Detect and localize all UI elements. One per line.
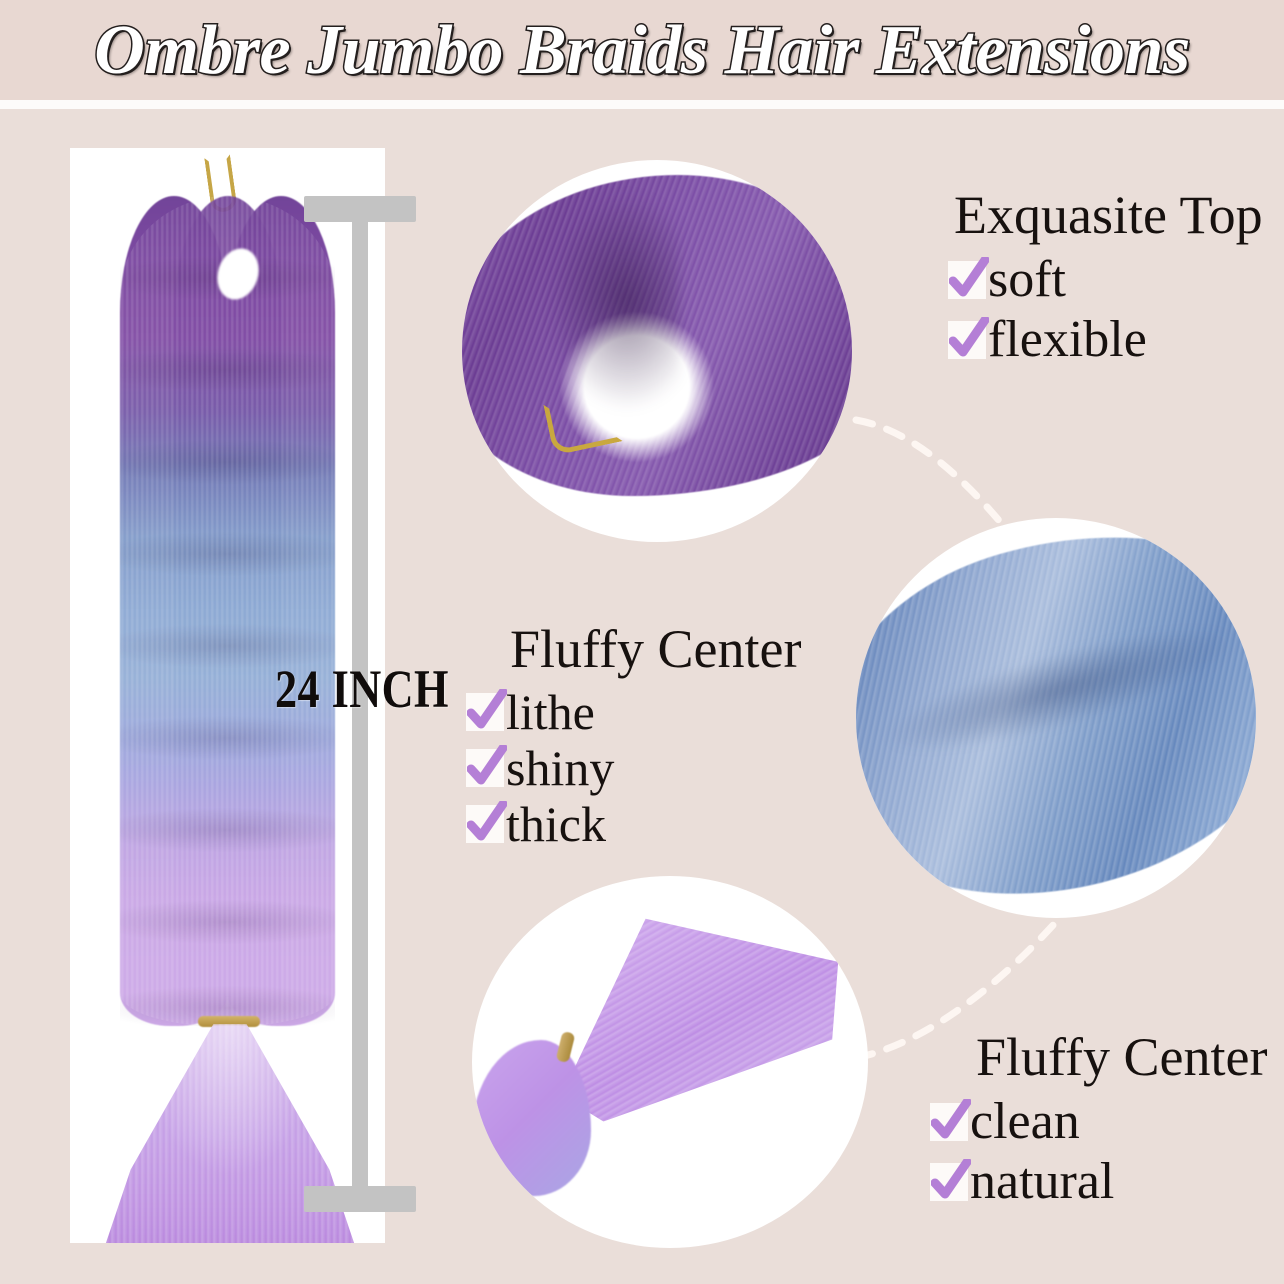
list-item: shiny — [466, 740, 801, 796]
feature-title: Exquasite Top — [948, 186, 1263, 244]
checkmark-icon — [466, 693, 504, 731]
feature-list: clean natural — [930, 1092, 1267, 1212]
list-item: lithe — [466, 684, 801, 740]
checkmark-icon — [948, 261, 986, 299]
list-item: thick — [466, 796, 801, 852]
header-divider — [0, 100, 1284, 109]
detail-inset-top-purple-loop — [462, 160, 852, 542]
feature-block-exquisite-top: Exquasite Top soft flexible — [948, 186, 1263, 370]
length-label: 24 INCH — [275, 660, 449, 718]
list-item: soft — [948, 250, 1263, 310]
feature-block-fluffy-center-bottom: Fluffy Center clean natural — [930, 1028, 1267, 1212]
checkmark-icon — [466, 805, 504, 843]
checkmark-icon — [948, 321, 986, 359]
detail-inset-lavender-fan — [472, 876, 868, 1248]
list-item-label: soft — [988, 253, 1066, 307]
header-banner: Ombre Jumbo Braids Hair Extensions — [0, 0, 1284, 100]
list-item: flexible — [948, 310, 1263, 370]
checkmark-icon — [466, 749, 504, 787]
feature-title: Fluffy Center — [930, 1028, 1267, 1086]
list-item-label: lithe — [506, 685, 595, 739]
braid-weave-shading — [120, 196, 335, 1026]
feature-list: soft flexible — [948, 250, 1263, 370]
list-item-label: thick — [506, 797, 606, 851]
feature-list: lithe shiny thick — [466, 684, 801, 852]
feature-title: Fluffy Center — [466, 620, 801, 678]
list-item-label: clean — [970, 1095, 1080, 1149]
detail-inset-blue-braid — [856, 518, 1256, 918]
page-title: Ombre Jumbo Braids Hair Extensions — [0, 12, 1284, 90]
list-item: clean — [930, 1092, 1267, 1152]
list-item: natural — [930, 1152, 1267, 1212]
gold-tie-icon — [556, 1031, 576, 1063]
product-infographic: Ombre Jumbo Braids Hair Extensions — [0, 0, 1284, 1284]
list-item-label: natural — [970, 1155, 1114, 1209]
checkmark-icon — [930, 1103, 968, 1141]
list-item-label: flexible — [988, 313, 1147, 367]
list-item-label: shiny — [506, 741, 614, 795]
checkmark-icon — [930, 1163, 968, 1201]
feature-block-fluffy-center-mid: Fluffy Center lithe shiny — [466, 620, 801, 852]
